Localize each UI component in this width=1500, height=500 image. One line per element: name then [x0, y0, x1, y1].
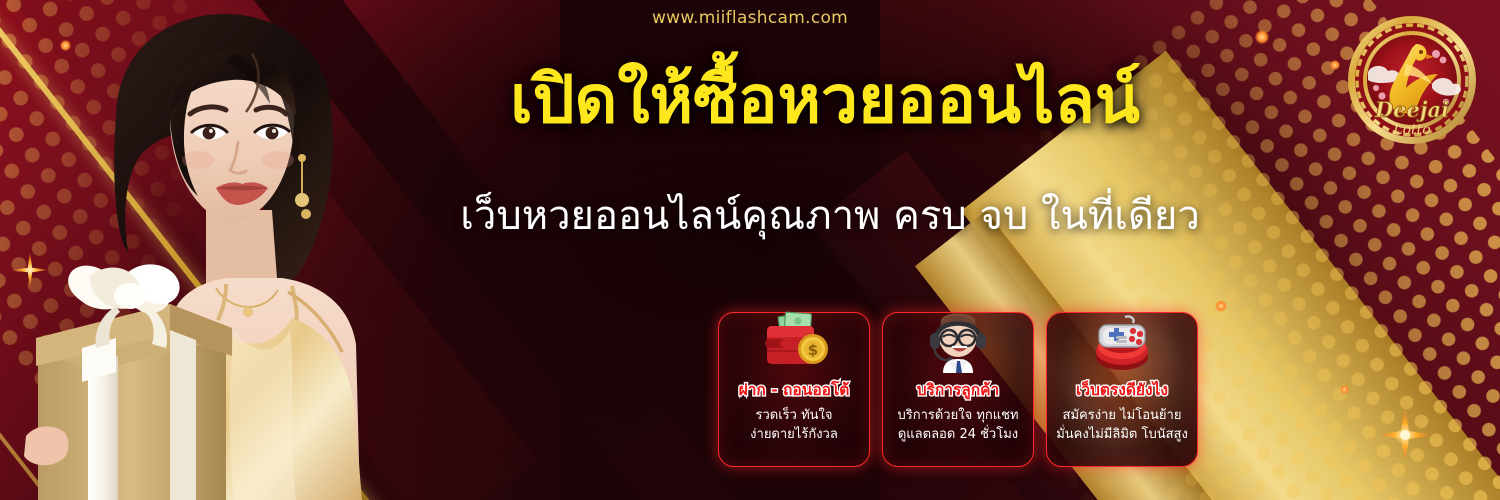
feature-card-line1: บริการด้วยใจ ทุกแชท	[897, 407, 1018, 426]
feature-card-customer-service[interactable]: บริการลูกค้า บริการด้วยใจ ทุกแชท ดูแลตลอ…	[882, 312, 1034, 467]
game-controller-icon	[1085, 311, 1159, 373]
site-url: www.miiflashcam.com	[0, 8, 1500, 28]
brand-logo[interactable]: Deejai Lotto	[1346, 14, 1478, 146]
glow-particle-3	[1215, 300, 1227, 312]
glow-particle-2	[1330, 60, 1340, 70]
feature-card-title: เว็บตรงดียังไง	[1076, 377, 1168, 402]
logo-subtitle: Lotto	[1392, 122, 1430, 138]
feature-card-title: ฝาก - ถอนออโต้	[739, 377, 850, 402]
wallet-cash-coin-icon: $	[757, 311, 831, 373]
page-title: เปิดให้ซื้อหวยออนไลน์	[430, 64, 1220, 137]
feature-card-line1: รวดเร็ว ทันใจ	[750, 407, 838, 426]
promo-banner: www.miiflashcam.com เปิดให้ซื้อหวยออนไลน…	[0, 0, 1500, 500]
feature-card-deposit-withdraw[interactable]: $ ฝาก - ถอนออโต้ รวดเร็ว ทันใจ ง่ายดายไร…	[718, 312, 870, 467]
feature-card-line2: มั่นคงไม่มีลิมิต โบนัสสูง	[1056, 426, 1188, 445]
model-photo	[20, 0, 440, 500]
headset-operator-icon	[921, 311, 995, 373]
feature-card-line2: ดูแลตลอด 24 ชั่วโมง	[897, 426, 1018, 445]
svg-text:$: $	[808, 341, 818, 359]
feature-card-direct-website[interactable]: เว็บตรงดียังไง สมัครง่าย ไม่โอนย้าย มั่น…	[1046, 312, 1198, 467]
feature-card-line2: ง่ายดายไร้กังวล	[750, 426, 838, 445]
feature-card-title: บริการลูกค้า	[917, 377, 1000, 402]
feature-cards: $ ฝาก - ถอนออโต้ รวดเร็ว ทันใจ ง่ายดายไร…	[718, 312, 1198, 467]
glow-particle-1	[1255, 30, 1269, 44]
logo-name: Deejai	[1374, 97, 1449, 122]
feature-card-line1: สมัครง่าย ไม่โอนย้าย	[1056, 407, 1188, 426]
glow-particle-4	[1340, 385, 1349, 394]
sparkle-bottom-right	[1375, 405, 1435, 465]
page-subtitle: เว็บหวยออนไลน์คุณภาพ ครบ จบ ในที่เดียว	[400, 192, 1260, 240]
